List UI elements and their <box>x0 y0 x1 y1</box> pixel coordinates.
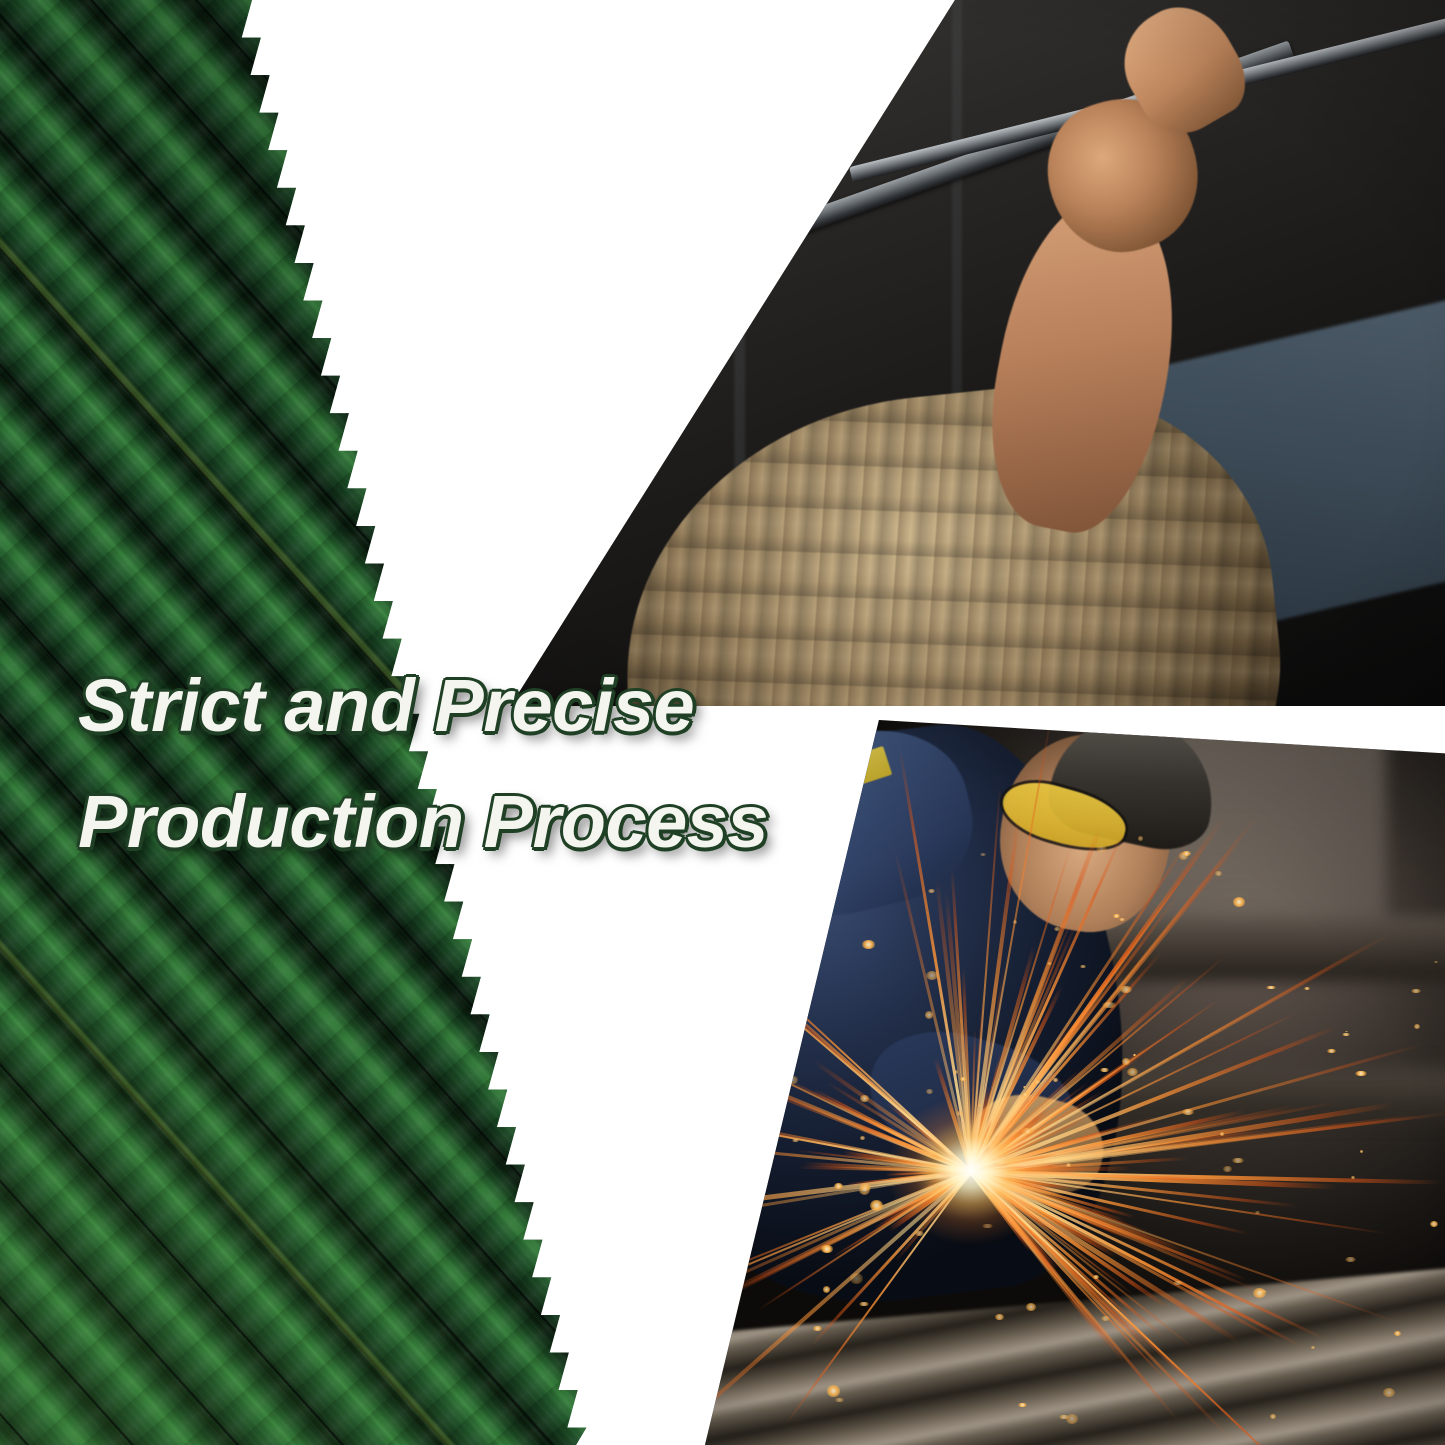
product-marketing-poster: Strict and Precise Production Process <box>0 0 1445 1445</box>
